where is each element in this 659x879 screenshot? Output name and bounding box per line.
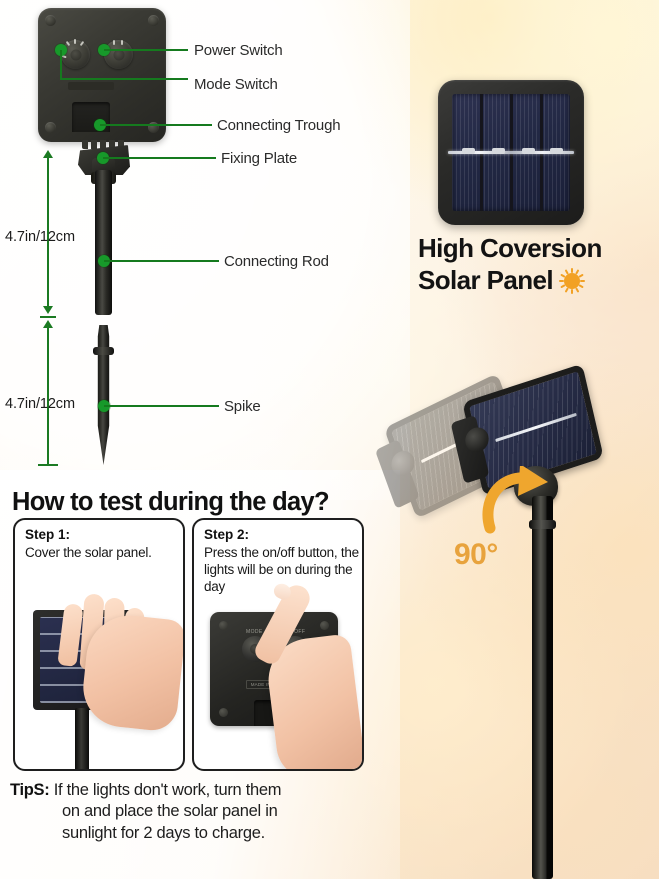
callout-leader-line: [104, 405, 219, 407]
knob-tick: [74, 39, 76, 44]
sun-ray: [560, 273, 565, 277]
sun-icon: [559, 268, 585, 294]
screw-icon: [45, 122, 56, 133]
callout-label-power-switch: Power Switch: [194, 42, 282, 59]
sun-ray: [580, 280, 585, 282]
dimension-line: [47, 326, 49, 464]
solar-panel-cells: [452, 94, 570, 211]
knob-tick: [80, 41, 85, 46]
model-label-strip: [68, 82, 114, 90]
step-1-description: Cover the solar panel.: [25, 544, 180, 561]
screw-icon: [219, 708, 228, 717]
callout-leader-line: [104, 260, 219, 262]
mounting-pole: [532, 496, 553, 879]
solder-tab: [492, 148, 505, 154]
sun-ray: [560, 284, 565, 288]
spike-ring: [93, 347, 114, 355]
step-1-label: Step 1:: [25, 527, 70, 542]
dimension-label-rod: 4.7in/12cm: [5, 229, 75, 245]
callout-leader-line: [60, 78, 188, 80]
step-2-label: Step 2:: [204, 527, 249, 542]
tips-block: TipS: If the lights don't work, turn the…: [10, 780, 390, 844]
callout-leader-line: [104, 49, 188, 51]
rotation-demo-photo: 90°: [386, 378, 659, 879]
knob-tick: [66, 41, 71, 46]
panel-caption-line2: Solar Panel: [418, 265, 553, 295]
callout-label-connecting-rod: Connecting Rod: [224, 253, 329, 270]
sun-ray: [565, 269, 569, 274]
step-2-card: Step 2: Press the on/off button, the lig…: [192, 518, 364, 771]
solder-tab: [522, 148, 535, 154]
screw-icon: [45, 15, 56, 26]
callout-label-fixing-plate: Fixing Plate: [221, 150, 297, 167]
spike-part: [96, 325, 111, 465]
howto-section-title: How to test during the day?: [12, 488, 329, 517]
callout-label-mode-switch: Mode Switch: [194, 76, 278, 93]
curved-rotation-arrow-icon: [476, 466, 552, 542]
dimension-cap: [38, 464, 58, 466]
busbar: [495, 413, 576, 442]
spike-shaft: [96, 325, 111, 465]
solder-tab: [550, 148, 563, 154]
panel-caption-line1: High Coversion: [418, 233, 602, 263]
solar-panel-caption: High Coversion Solar Panel: [418, 233, 653, 296]
sun-ray: [575, 269, 579, 274]
screw-icon: [148, 15, 159, 26]
callout-leader-line: [100, 124, 212, 126]
connecting-rod-part: [95, 170, 112, 315]
sun-ray: [578, 273, 583, 277]
sun-ray: [575, 287, 579, 292]
dimension-label-spike: 4.7in/12cm: [5, 396, 75, 412]
knob-tick: [121, 40, 123, 45]
dimension-arrow-down-icon: [43, 306, 53, 314]
tips-line-2: on and place the solar panel in: [10, 801, 390, 822]
solder-tab: [462, 148, 475, 154]
power-switch-knob[interactable]: [104, 40, 133, 69]
knob-tick: [113, 40, 115, 45]
callout-leader-line: [103, 157, 216, 159]
callout-label-spike: Spike: [224, 398, 261, 415]
step-1-card: Step 1: Cover the solar panel.: [13, 518, 185, 771]
callout-label-connecting-trough: Connecting Trough: [217, 117, 340, 134]
infographic-canvas: 4.7in/12cm 4.7in/12cm Power Switch Mode …: [0, 0, 659, 879]
sun-ray: [571, 289, 573, 294]
tips-line-3: sunlight for 2 days to charge.: [10, 823, 390, 844]
tips-line-1: If the lights don't work, turn them: [54, 781, 281, 799]
step-1-pole: [75, 708, 89, 771]
sun-ray: [571, 268, 573, 273]
callout-leader-line: [60, 50, 62, 80]
screw-icon: [320, 621, 329, 630]
rotation-angle-label: 90°: [454, 538, 498, 572]
tips-label: TipS:: [10, 781, 49, 799]
sun-ray: [578, 284, 583, 288]
screw-icon: [219, 621, 228, 630]
sun-ray: [559, 280, 564, 282]
mode-caption: MODE: [246, 629, 263, 635]
mode-switch-knob[interactable]: [61, 40, 90, 69]
solar-panel-photo: [438, 80, 584, 225]
dimension-cap: [40, 316, 56, 318]
sun-ray: [565, 287, 569, 292]
